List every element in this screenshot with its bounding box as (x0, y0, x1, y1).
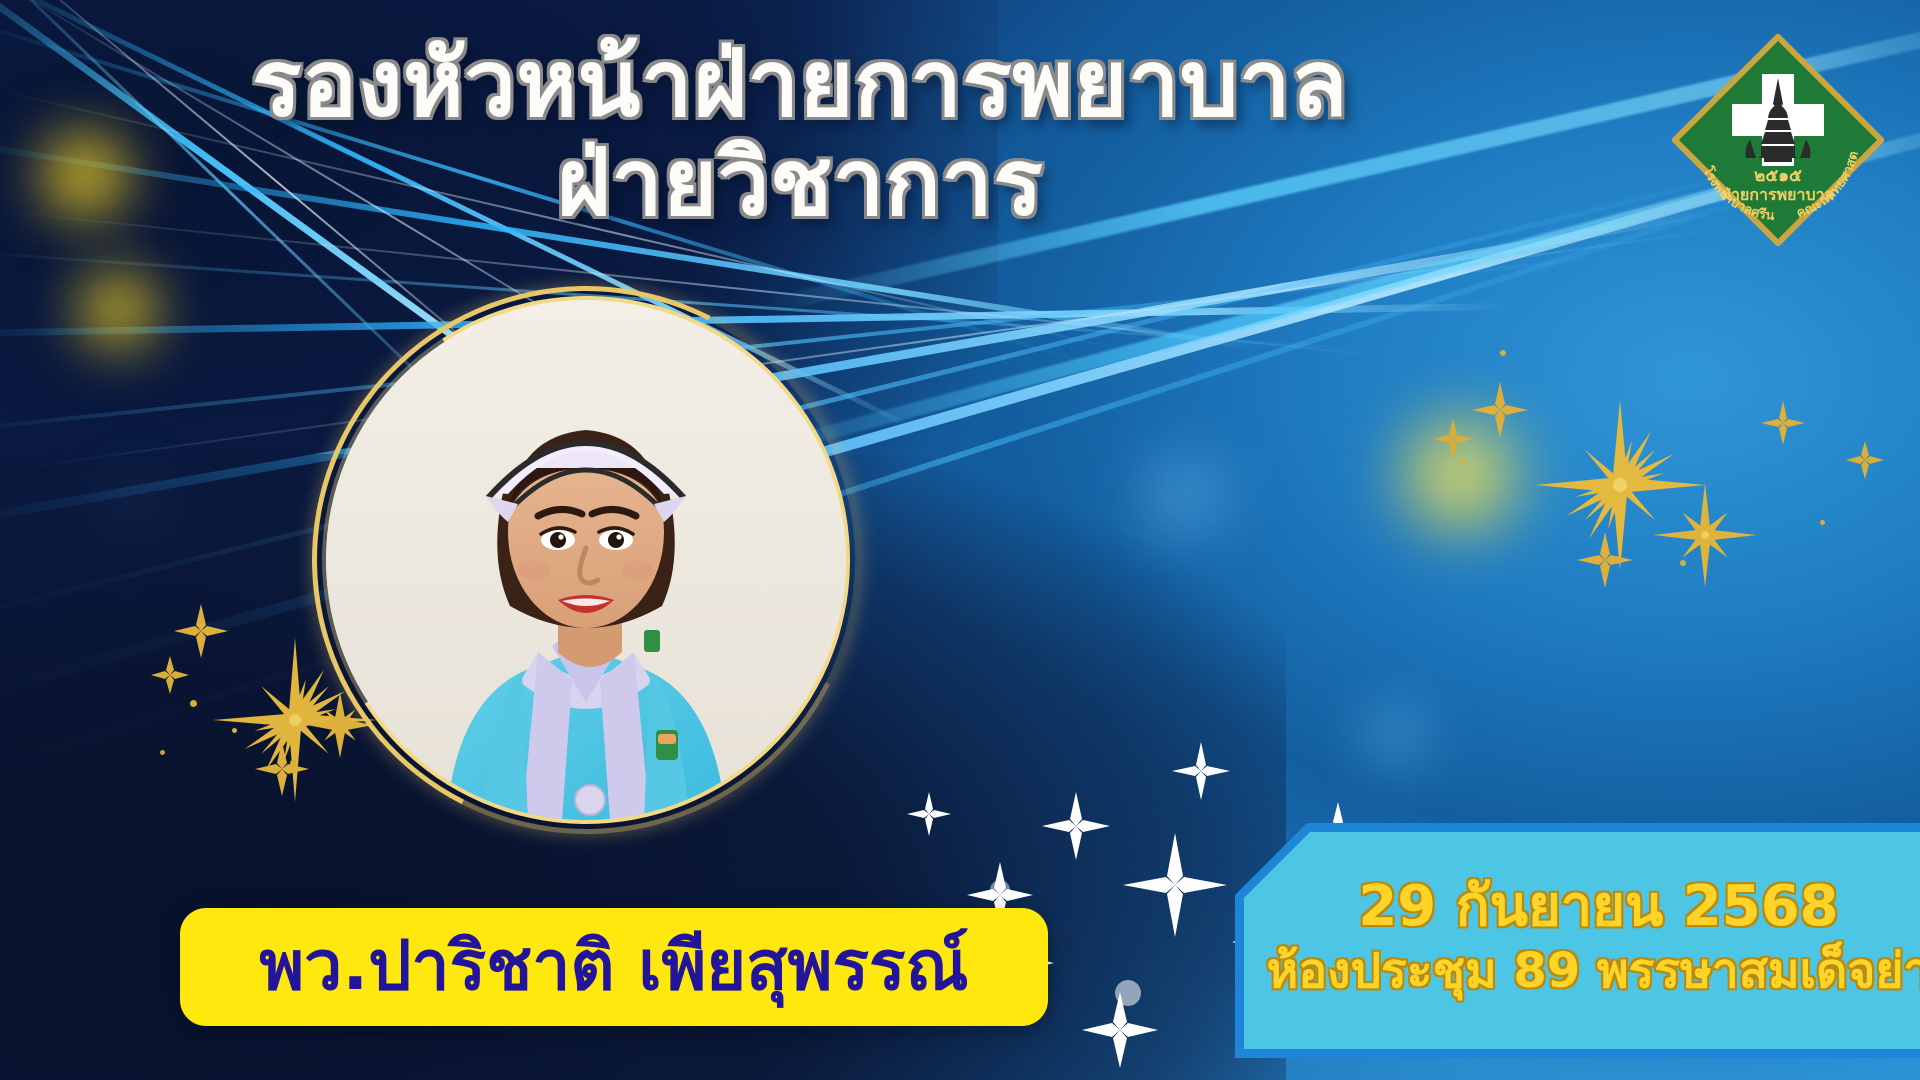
event-date: 29 กันยายน 2568 (1358, 876, 1838, 939)
date-venue-box: 29 กันยายน 2568 ห้องประชุม 89 พรรษาสมเด็… (1235, 823, 1920, 1058)
speaker-name-banner: พว.ปาริชาติ เพียสุพรรณ์ (180, 908, 1048, 1026)
speaker-name: พว.ปาริชาติ เพียสุพรรณ์ (259, 933, 968, 1001)
title-line-1: รองหัวหน้าฝ่ายการพยาบาล (0, 34, 1600, 133)
hospital-logo: ๒๕๑๕ ฝ่ายการพยาบาล โรงพยาบาลศรีนครินทร์ … (1672, 34, 1884, 246)
date-box-fill: 29 กันยายน 2568 ห้องประชุม 89 พรรษาสมเด็… (1244, 832, 1920, 1049)
portrait (326, 300, 846, 820)
event-venue: ห้องประชุม 89 พรรษาสมเด็จย่า (1267, 945, 1920, 999)
logo-year: ๒๕๑๕ (1754, 166, 1802, 186)
title-line-2: ฝ่ายวิชาการ (0, 133, 1600, 232)
poster-title: รองหัวหน้าฝ่ายการพยาบาล ฝ่ายวิชาการ (0, 34, 1600, 233)
event-poster: รองหัวหน้าฝ่ายการพยาบาล ฝ่ายวิชาการ (0, 0, 1920, 1080)
portrait-photo (326, 300, 846, 820)
